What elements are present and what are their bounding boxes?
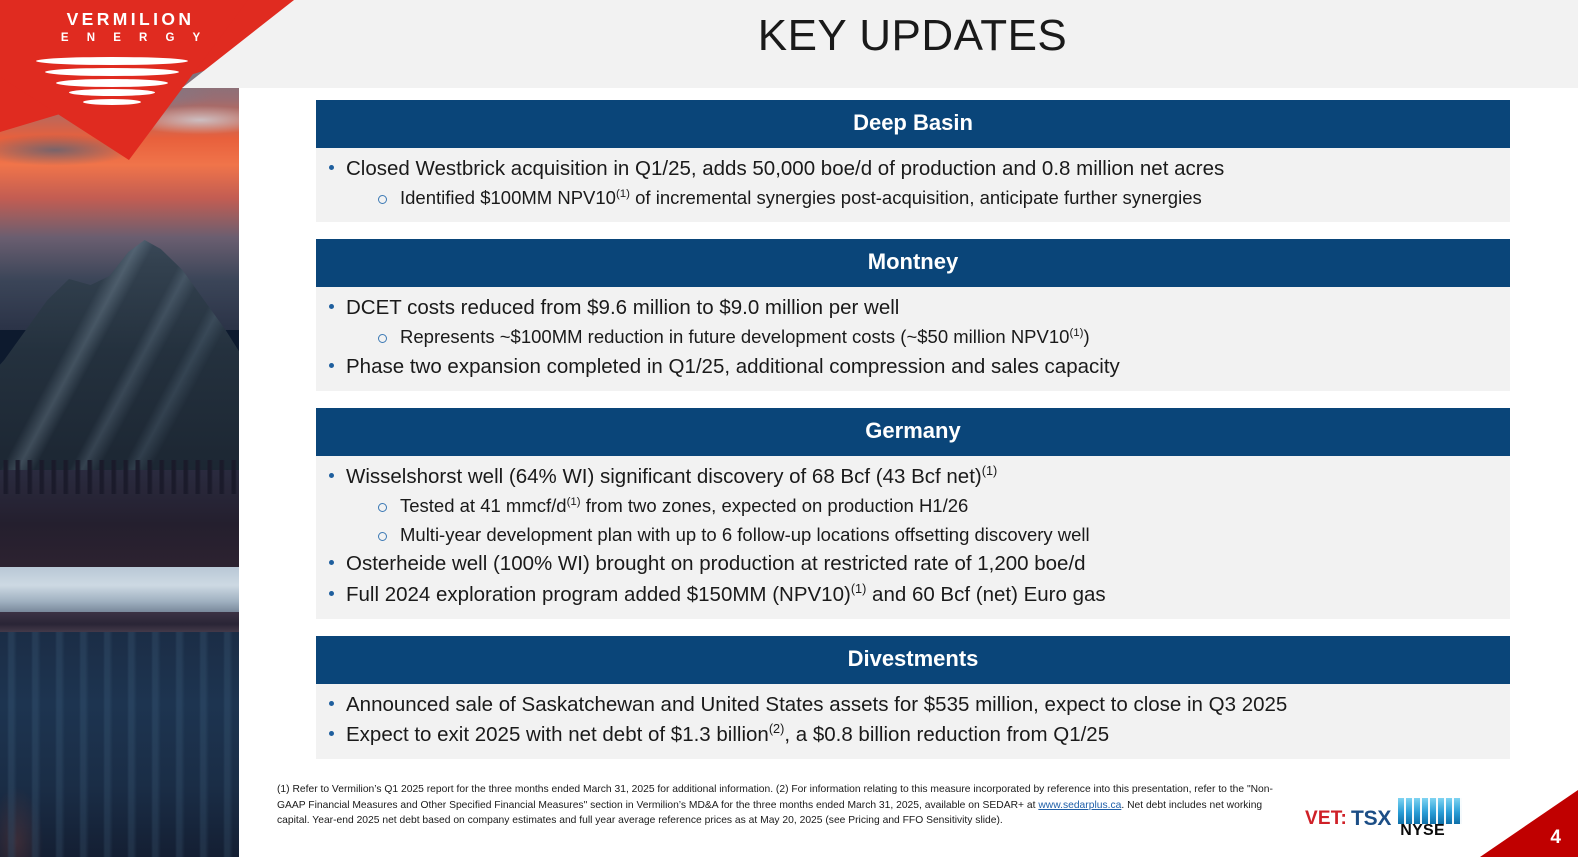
section-body-montney: DCET costs reduced from $9.6 million to …	[316, 287, 1510, 391]
exchange-listing-logo: VET: TSX NYSE	[1305, 798, 1462, 840]
section-body-germany: Wisselshorst well (64% WI) significant d…	[316, 456, 1510, 619]
bullet-text: Represents ~$100MM reduction in future d…	[400, 326, 1069, 347]
ticker-label: VET:	[1305, 808, 1347, 830]
bullet-item: DCET costs reduced from $9.6 million to …	[316, 293, 1510, 322]
section-divestments: DivestmentsAnnounced sale of Saskatchewa…	[316, 636, 1510, 759]
nyse-label: NYSE	[1400, 822, 1445, 840]
nyse-logo: NYSE	[1398, 798, 1462, 840]
shore-band	[0, 612, 239, 634]
bullet-item: Full 2024 exploration program added $150…	[316, 580, 1510, 609]
section-body-divestments: Announced sale of Saskatchewan and Unite…	[316, 684, 1510, 759]
footnote-marker: (1)	[851, 581, 867, 596]
brand-tagline: E N E R G Y	[43, 33, 218, 45]
section-body-deep-basin: Closed Westbrick acquisition in Q1/25, a…	[316, 148, 1510, 222]
section-deep-basin: Deep BasinClosed Westbrick acquisition i…	[316, 100, 1510, 222]
page-number: 4	[1550, 828, 1561, 847]
bullet-item: Closed Westbrick acquisition in Q1/25, a…	[316, 154, 1510, 183]
bullet-text: Identified $100MM NPV10	[400, 187, 616, 208]
bullet-text-cont: )	[1083, 326, 1089, 347]
bullet-item: Osterheide well (100% WI) brought on pro…	[316, 549, 1510, 578]
footnote-marker: (2)	[769, 721, 785, 736]
bullet-item: Identified $100MM NPV10(1) of incrementa…	[316, 184, 1510, 212]
section-header-deep-basin: Deep Basin	[316, 100, 1510, 148]
nyse-bars-icon	[1398, 798, 1462, 824]
sedarplus-link[interactable]: www.sedarplus.ca	[1038, 800, 1121, 811]
bullet-text: Expect to exit 2025 with net debt of $1.…	[346, 723, 769, 746]
bullet-text: Full 2024 exploration program added $150…	[346, 583, 851, 606]
bullet-text-cont: and 60 Bcf (net) Euro gas	[866, 583, 1105, 606]
section-header-montney: Montney	[316, 239, 1510, 287]
bullet-item: Wisselshorst well (64% WI) significant d…	[316, 462, 1510, 491]
section-header-divestments: Divestments	[316, 636, 1510, 684]
section-germany: GermanyWisselshorst well (64% WI) signif…	[316, 408, 1510, 619]
bullet-item: Phase two expansion completed in Q1/25, …	[316, 352, 1510, 381]
vermilion-lens-mark-icon	[36, 57, 188, 109]
footnote-marker: (1)	[1069, 327, 1083, 339]
bullet-text: Tested at 41 mmcf/d	[400, 495, 567, 516]
bullet-text-cont: from two zones, expected on production H…	[581, 495, 969, 516]
section-header-germany: Germany	[316, 408, 1510, 456]
water-reflection	[0, 632, 239, 857]
footnote: (1) Refer to Vermilion’s Q1 2025 report …	[277, 782, 1287, 829]
section-montney: MontneyDCET costs reduced from $9.6 mill…	[316, 239, 1510, 391]
bullet-item: Multi-year development plan with up to 6…	[316, 521, 1510, 549]
bullet-item: Expect to exit 2025 with net debt of $1.…	[316, 720, 1510, 749]
bullet-item: Announced sale of Saskatchewan and Unite…	[316, 690, 1510, 719]
tsx-logo: TSX	[1351, 807, 1391, 831]
bullet-text-cont: , a $0.8 billion reduction from Q1/25	[784, 723, 1109, 746]
ice-shoreline	[0, 567, 239, 615]
bullet-text: Wisselshorst well (64% WI) significant d…	[346, 465, 982, 488]
slide: VERMILION E N E R G Y KEY UPDATES Deep B…	[0, 0, 1578, 857]
sections-container: Deep BasinClosed Westbrick acquisition i…	[316, 100, 1510, 776]
brand-name: VERMILION	[43, 11, 218, 29]
bullet-item: Represents ~$100MM reduction in future d…	[316, 323, 1510, 351]
footnote-marker: (1)	[982, 463, 998, 478]
footnote-marker: (1)	[567, 496, 581, 508]
footnote-marker: (1)	[616, 188, 630, 200]
page-corner-accent	[1480, 790, 1578, 857]
page-title: KEY UPDATES	[430, 10, 1395, 63]
treeline	[0, 470, 239, 568]
bullet-text-cont: of incremental synergies post-acquisitio…	[630, 187, 1202, 208]
bullet-item: Tested at 41 mmcf/d(1) from two zones, e…	[316, 492, 1510, 520]
